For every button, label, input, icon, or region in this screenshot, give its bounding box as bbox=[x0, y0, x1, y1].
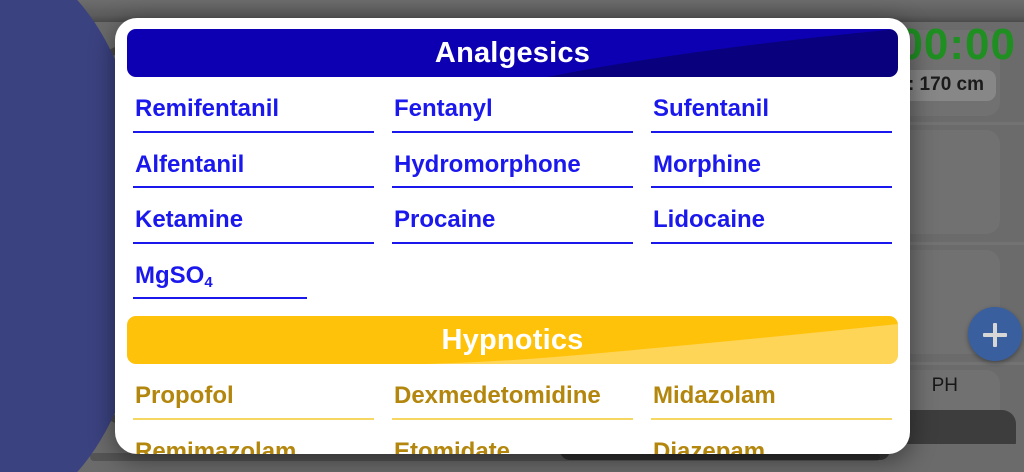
drug-name: Remimazolam bbox=[133, 434, 374, 454]
drug-picker-dialog: Analgesics Remifentanil Fentanyl Sufenta… bbox=[115, 18, 910, 454]
drug-name: Midazolam bbox=[651, 378, 892, 418]
drug-name: Ketamine bbox=[133, 202, 374, 242]
drug-name: Propofol bbox=[133, 378, 374, 418]
add-button[interactable] bbox=[968, 307, 1022, 361]
drug-item[interactable]: Dexmedetomidine bbox=[392, 364, 633, 420]
ph-label: PH bbox=[932, 375, 958, 397]
drug-item[interactable]: Etomidate bbox=[392, 420, 633, 454]
drug-item[interactable]: Remifentanil bbox=[133, 77, 374, 133]
screen-root: 00:00 t: 170 cm PH Analgesics Remifentan… bbox=[0, 0, 1024, 472]
elapsed-timer: 00:00 bbox=[898, 20, 1016, 70]
drug-item[interactable]: Diazepam bbox=[651, 420, 892, 454]
analgesics-grid: Remifentanil Fentanyl Sufentanil Alfenta… bbox=[115, 77, 910, 305]
hypnotics-grid: Propofol Dexmedetomidine Midazolam Remim… bbox=[115, 364, 910, 454]
drug-name: Procaine bbox=[392, 202, 633, 242]
drug-item[interactable]: Morphine bbox=[651, 133, 892, 189]
drug-item[interactable]: MgSO4 bbox=[133, 244, 374, 300]
drug-item[interactable]: Alfentanil bbox=[133, 133, 374, 189]
drug-item[interactable]: Hydromorphone bbox=[392, 133, 633, 189]
drug-name: Etomidate bbox=[392, 434, 633, 454]
drug-item[interactable]: Midazolam bbox=[651, 364, 892, 420]
drug-name: Hydromorphone bbox=[392, 147, 633, 187]
drug-item[interactable]: Sufentanil bbox=[651, 77, 892, 133]
drug-name: Alfentanil bbox=[133, 147, 374, 187]
section-title: Hypnotics bbox=[442, 324, 584, 357]
drug-name: Diazepam bbox=[651, 434, 892, 454]
plus-icon bbox=[993, 323, 997, 347]
drug-item[interactable]: Remimazolam bbox=[133, 420, 374, 454]
drug-item[interactable]: Procaine bbox=[392, 188, 633, 244]
drug-item[interactable]: Fentanyl bbox=[392, 77, 633, 133]
drug-item[interactable]: Ketamine bbox=[133, 188, 374, 244]
drug-name: Remifentanil bbox=[133, 91, 374, 131]
background-bottom-handle bbox=[90, 453, 880, 461]
drug-name: Fentanyl bbox=[392, 91, 633, 131]
drug-item[interactable]: Lidocaine bbox=[651, 188, 892, 244]
drug-item[interactable]: Propofol bbox=[133, 364, 374, 420]
section-header-analgesics: Analgesics bbox=[127, 29, 898, 77]
drug-name: Lidocaine bbox=[651, 202, 892, 242]
section-header-hypnotics: Hypnotics bbox=[127, 316, 898, 364]
drug-underline bbox=[392, 242, 633, 244]
section-title: Analgesics bbox=[435, 37, 590, 70]
drug-underline bbox=[133, 297, 307, 299]
drug-underline bbox=[651, 242, 892, 244]
subscript: 4 bbox=[204, 275, 212, 291]
drug-name: Morphine bbox=[651, 147, 892, 187]
drug-name: Dexmedetomidine bbox=[392, 378, 633, 418]
drug-name: Sufentanil bbox=[651, 91, 892, 131]
drug-name: MgSO4 bbox=[133, 258, 374, 298]
